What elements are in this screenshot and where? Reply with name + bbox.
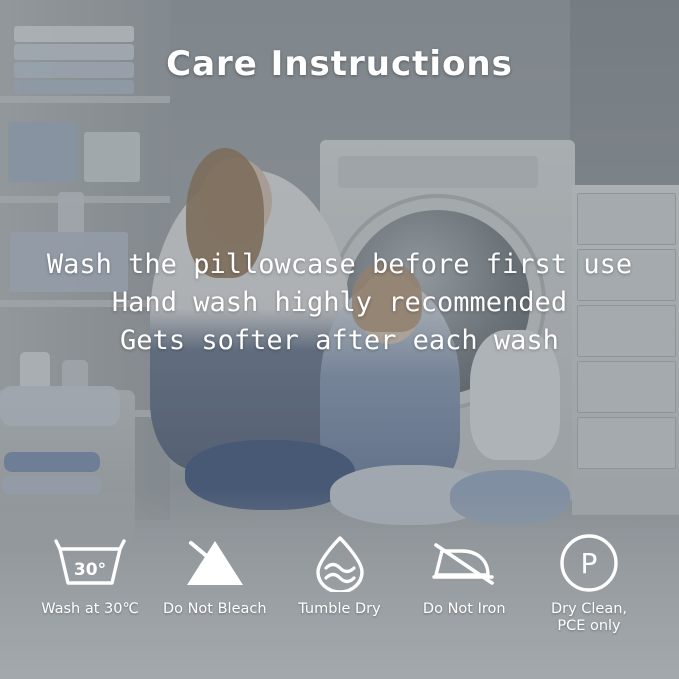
care-symbol-label: Tumble Dry [298,601,380,618]
care-symbol-label: Do Not Iron [423,601,506,618]
care-symbol-bleach: Do Not Bleach [155,533,275,635]
care-symbols-row: 30° Wash at 30℃ Do Not Bleach [0,533,679,635]
care-symbol-tumble-dry: Tumble Dry [280,533,400,635]
care-symbol-iron: Do Not Iron [404,533,524,635]
dry-clean-p-icon: P [558,533,620,593]
do-not-iron-icon [428,533,500,593]
dry-clean-label-line1: Dry Clean, [551,601,627,617]
dry-clean-label-line2: PCE only [557,618,620,634]
care-instructions-poster: Care Instructions Wash the pillowcase be… [0,0,679,679]
care-symbol-label: Dry Clean,PCE only [551,601,627,635]
svg-text:30°: 30° [74,560,106,580]
svg-text:P: P [581,547,598,580]
care-symbol-label: Wash at 30℃ [41,601,139,618]
page-title: Care Instructions [0,44,679,84]
instruction-line-1: Wash the pillowcase before first use [0,246,679,284]
tumble-dry-icon [310,533,370,593]
care-symbol-label: Do Not Bleach [163,601,267,618]
care-symbol-wash: 30° Wash at 30℃ [30,533,150,635]
wash-tub-30-icon: 30° [54,533,126,593]
instruction-line-3: Gets softer after each wash [0,322,679,360]
instruction-line-2: Hand wash highly recommended [0,284,679,322]
instructions-block: Wash the pillowcase before first use Han… [0,246,679,360]
care-symbol-dry-clean: P Dry Clean,PCE only [529,533,649,635]
do-not-bleach-icon [183,533,247,593]
